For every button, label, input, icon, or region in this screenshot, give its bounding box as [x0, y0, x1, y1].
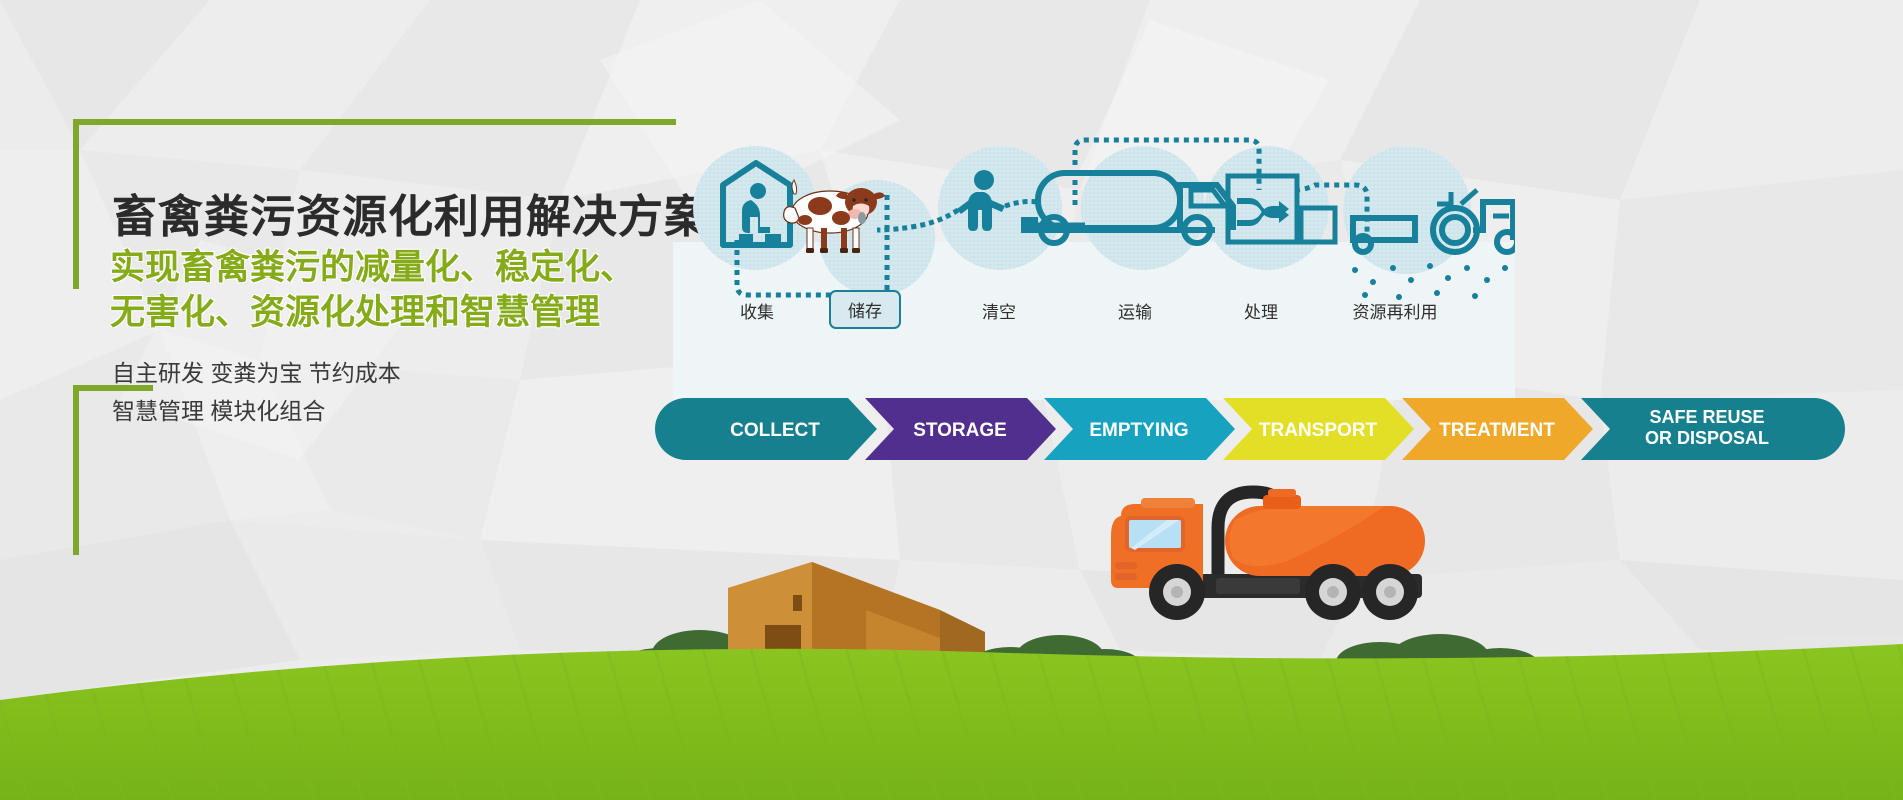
left-text-panel: 畜禽粪污资源化利用解决方案 实现畜禽粪污的减量化、稳定化、 无害化、资源化处理和… — [0, 0, 760, 560]
truck-grille-bottom — [1115, 573, 1137, 580]
step-label-reuse[interactable]: 资源再利用 — [1315, 298, 1475, 323]
page-subtitle-line-2: 无害化、资源化处理和智慧管理 — [110, 291, 635, 336]
chevron-storage[interactable]: STORAGE — [865, 398, 1056, 460]
chevron-emptying[interactable]: EMPTYING — [1044, 398, 1235, 460]
chevron-label-emptying: EMPTYING — [1089, 420, 1188, 441]
process-diagram — [655, 130, 1515, 400]
process-chevron-bar: COLLECT STORAGE EMPTYING TRANSPORT TREAT… — [655, 398, 1845, 460]
farm-scene — [0, 540, 1903, 800]
step-label-collect[interactable]: 收集 — [717, 298, 797, 323]
tagline: 自主研发 变粪为宝 节约成本 智慧管理 模块化组合 — [112, 355, 401, 431]
step-label-transport[interactable]: 运输 — [1095, 298, 1175, 323]
chevron-collect[interactable]: COLLECT — [655, 398, 877, 460]
step-label-emptying[interactable]: 清空 — [959, 298, 1039, 323]
chevron-transport[interactable]: TRANSPORT — [1223, 398, 1414, 460]
chevron-treatment[interactable]: TREATMENT — [1402, 398, 1593, 460]
truck-wheel-front — [1149, 564, 1205, 620]
icon-circle-transport — [1081, 146, 1205, 270]
page-subtitle: 实现畜禽粪污的减量化、稳定化、 无害化、资源化处理和智慧管理 — [110, 246, 635, 336]
chevron-label-transport: TRANSPORT — [1259, 420, 1378, 441]
chevron-label-storage: STORAGE — [913, 420, 1007, 441]
truck-cab-roof-deflector — [1141, 498, 1195, 508]
chevron-label-reuse-line1: SAFE REUSE — [1649, 407, 1764, 427]
step-labels-row: 收集 储存 清空 运输 处理 资源再利用 — [655, 290, 1515, 336]
step-label-storage[interactable]: 储存 — [829, 290, 901, 329]
banner-root: 畜禽粪污资源化利用解决方案 实现畜禽粪污的减量化、稳定化、 无害化、资源化处理和… — [0, 0, 1903, 800]
truck-tank-hatch — [1263, 495, 1301, 509]
chevron-label-collect: COLLECT — [730, 420, 820, 441]
page-title: 畜禽粪污资源化利用解决方案 — [112, 180, 710, 245]
truck-chassis-panel — [1216, 578, 1300, 594]
barn-building — [728, 562, 985, 657]
tagline-line-1: 自主研发 变粪为宝 节约成本 — [112, 355, 401, 393]
truck-wheel-mid — [1305, 564, 1361, 620]
chevron-label-treatment: TREATMENT — [1439, 420, 1555, 441]
tagline-line-2: 智慧管理 模块化组合 — [112, 393, 401, 431]
page-subtitle-line-1: 实现畜禽粪污的减量化、稳定化、 — [110, 246, 635, 291]
truck-grille-top — [1115, 562, 1137, 569]
vacuum-tanker-truck — [1085, 470, 1435, 630]
chevron-reuse[interactable]: SAFE REUSE OR DISPOSAL — [1581, 398, 1845, 460]
step-label-treatment[interactable]: 处理 — [1221, 298, 1301, 323]
truck-wheel-rear — [1362, 564, 1418, 620]
chevron-label-reuse-line2: OR DISPOSAL — [1645, 428, 1769, 448]
truck-tank-hatch-cap — [1268, 489, 1296, 497]
field-furrows — [0, 644, 1903, 800]
